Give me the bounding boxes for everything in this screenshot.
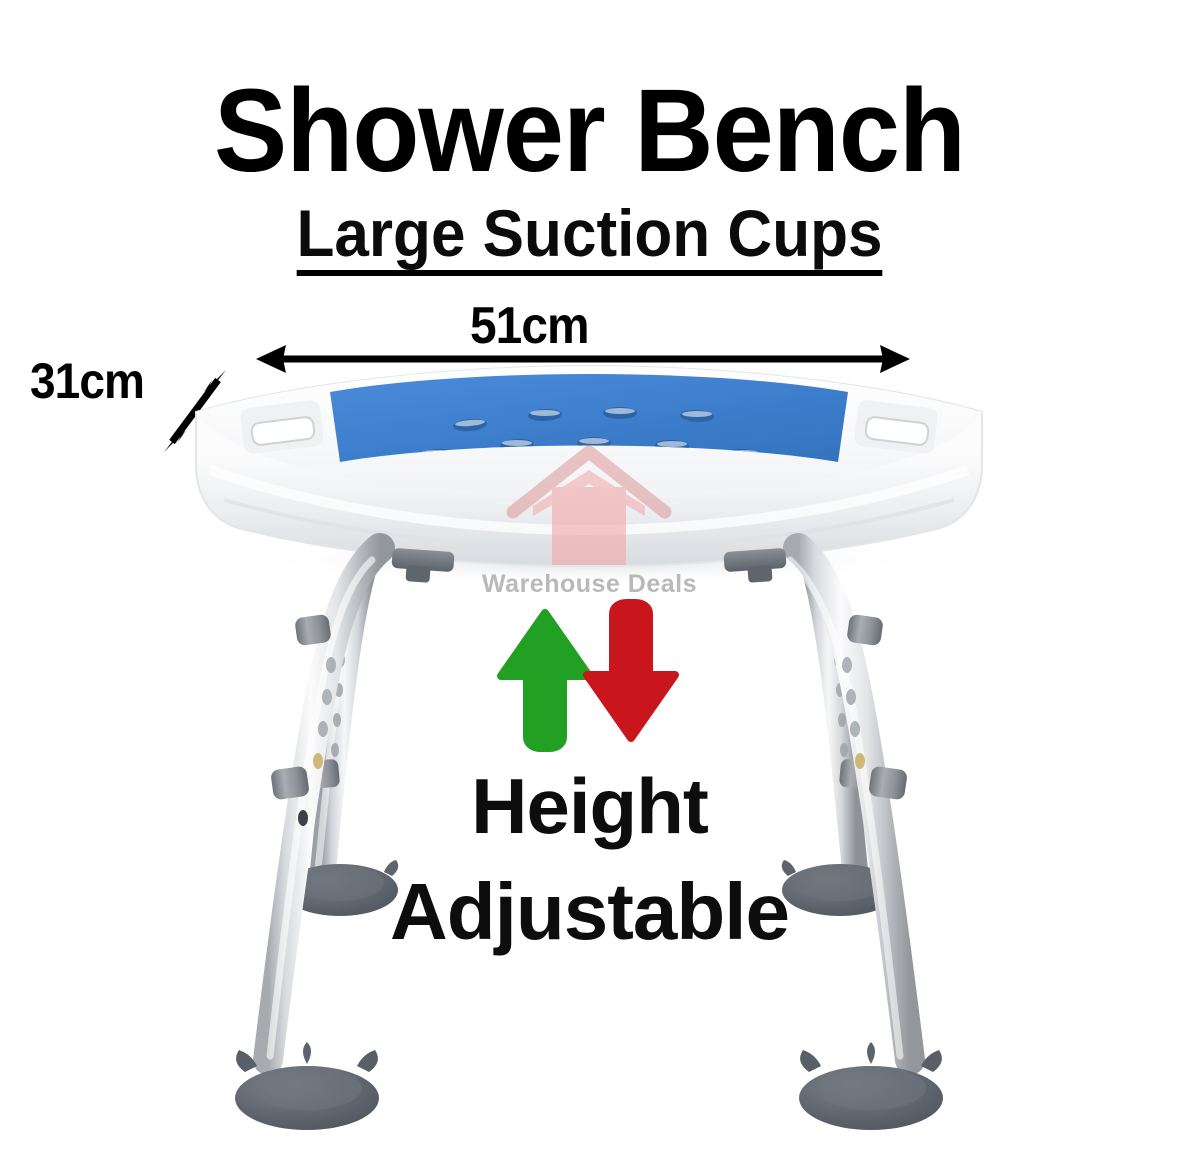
handle-slot-left — [239, 399, 324, 454]
height-adjustable-caption-line2: Adjustable — [0, 872, 1179, 952]
leg-collar — [846, 614, 884, 646]
green-up-arrow-icon — [501, 613, 589, 748]
red-down-arrow-icon — [587, 603, 675, 738]
warehouse-deals-watermark-text: Warehouse Deals — [0, 570, 1179, 599]
handle-slot-right — [853, 399, 938, 454]
product-image-canvas: Shower Bench Large Suction Cups 51cm 31c… — [0, 0, 1179, 1175]
leg-collar — [294, 614, 332, 646]
height-adjustable-caption-line1: Height — [0, 767, 1179, 845]
